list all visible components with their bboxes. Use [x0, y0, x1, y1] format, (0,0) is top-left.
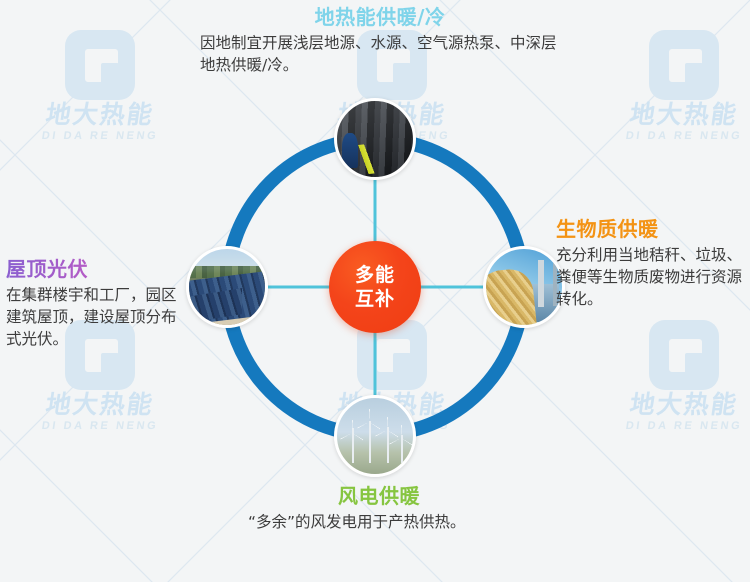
node-body-wind: “多余”的风发电用于产热供热。 — [248, 511, 510, 533]
node-title-wind: 风电供暖 — [248, 485, 510, 507]
node-body-geothermal: 因地制宜开展浅层地源、水源、空气源热泵、中深层地热供暖/冷。 — [200, 32, 560, 76]
node-title-geothermal: 地热能供暖/冷 — [200, 6, 560, 28]
wind-farm-photo — [334, 395, 416, 477]
node-label-biomass: 生物质供暖 充分利用当地秸秆、垃圾、粪便等生物质废物进行资源转化。 — [556, 218, 750, 310]
geothermal-plant-photo — [334, 98, 416, 180]
center-hub: 多能 互补 — [329, 241, 421, 333]
biomass-plant-photo — [483, 246, 565, 328]
node-body-biomass: 充分利用当地秸秆、垃圾、粪便等生物质废物进行资源转化。 — [556, 244, 750, 310]
node-title-rooftop-pv: 屋顶光伏 — [6, 258, 178, 280]
infographic-canvas: 地大热能DI DA RE NENG地大热能DI DA RE NENG地大热能DI… — [0, 0, 750, 582]
node-label-geothermal: 地热能供暖/冷 因地制宜开展浅层地源、水源、空气源热泵、中深层地热供暖/冷。 — [200, 6, 560, 76]
multi-energy-diagram: 多能 互补 地热能供暖/冷 因地制宜开展浅层地源、水源、空气源热泵、中深层地热供… — [0, 0, 750, 582]
rooftop-solar-photo — [186, 246, 268, 328]
node-label-wind: 风电供暖 “多余”的风发电用于产热供热。 — [248, 485, 510, 533]
node-label-rooftop-pv: 屋顶光伏 在集群楼宇和工厂，园区建筑屋顶，建设屋顶分布式光伏。 — [6, 258, 178, 350]
center-hub-line1: 多能 — [355, 263, 395, 287]
center-hub-line2: 互补 — [355, 287, 395, 311]
node-body-rooftop-pv: 在集群楼宇和工厂，园区建筑屋顶，建设屋顶分布式光伏。 — [6, 284, 178, 350]
node-title-biomass: 生物质供暖 — [556, 218, 750, 240]
